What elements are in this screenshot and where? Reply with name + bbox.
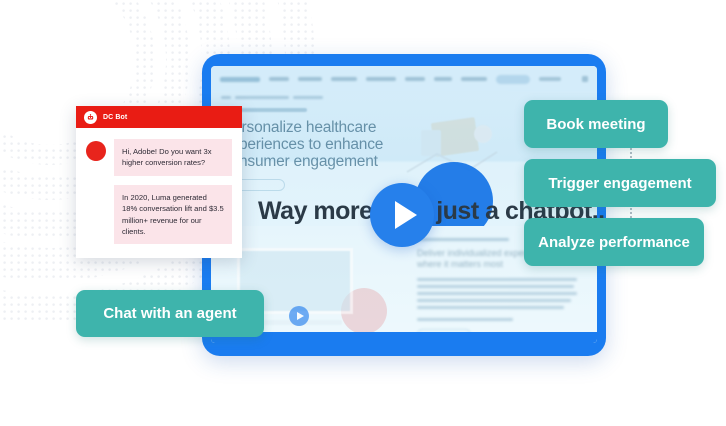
- nav-item[interactable]: [298, 77, 322, 81]
- analyze-performance-button[interactable]: Analyze performance: [524, 218, 704, 266]
- copy-paragraph: [417, 278, 577, 309]
- book-meeting-button[interactable]: Book meeting: [524, 100, 668, 148]
- breadcrumb: [221, 96, 323, 99]
- nav-item[interactable]: [461, 77, 487, 81]
- copy-eyebrow: [417, 238, 509, 241]
- nav-cta-button[interactable]: [496, 75, 530, 84]
- nav-item[interactable]: [366, 77, 396, 81]
- hero-heading: Personalize healthcare experiences to en…: [223, 119, 423, 170]
- inline-play-icon[interactable]: [289, 306, 309, 326]
- nav-secondary-link[interactable]: [539, 77, 561, 81]
- hero-section: Personalize healthcare experiences to en…: [223, 108, 423, 191]
- site-logo: [220, 77, 260, 82]
- nav-item[interactable]: [269, 77, 289, 81]
- trigger-engagement-button[interactable]: Trigger engagement: [524, 159, 716, 207]
- illustration-canvas: Personalize healthcare experiences to en…: [0, 0, 726, 426]
- copy-note: [417, 318, 513, 321]
- site-navbar: [211, 66, 597, 92]
- nav-item[interactable]: [405, 77, 425, 81]
- chat-message: In 2020, Luma generated 18% conversation…: [114, 185, 232, 245]
- site-footer-bar: [211, 332, 597, 343]
- nav-item[interactable]: [434, 77, 452, 81]
- chat-message-list: Hi, Adobe! Do you want 3x higher convers…: [114, 139, 232, 244]
- chat-header: DC Bot: [76, 106, 242, 128]
- chat-message: Hi, Adobe! Do you want 3x higher convers…: [114, 139, 232, 176]
- chat-body: Hi, Adobe! Do you want 3x higher convers…: [76, 128, 242, 258]
- avatar: [86, 141, 106, 161]
- chat-title: DC Bot: [103, 114, 127, 121]
- menu-icon[interactable]: [582, 76, 588, 82]
- nav-item[interactable]: [331, 77, 357, 81]
- chat-with-agent-button[interactable]: Chat with an agent: [76, 290, 264, 337]
- chat-widget: DC Bot Hi, Adobe! Do you want 3x higher …: [76, 106, 242, 258]
- play-icon[interactable]: [370, 183, 434, 247]
- robot-icon: [84, 111, 97, 124]
